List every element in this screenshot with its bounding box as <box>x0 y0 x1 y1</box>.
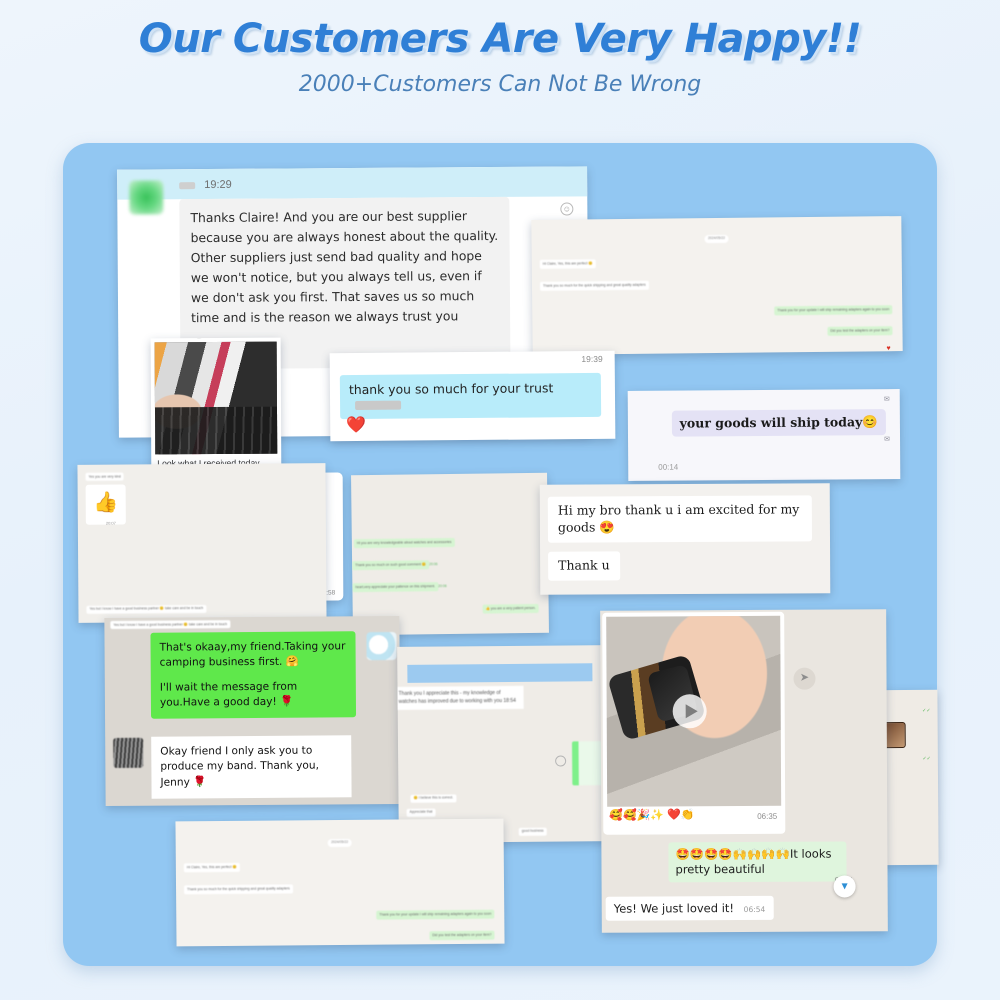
chat-line: Hi you are very knowledgeable about watc… <box>354 538 455 548</box>
message-time: 19:29 <box>204 179 232 191</box>
page-title: Our Customers Are Very Happy!! <box>0 16 1000 62</box>
message-time: 20:06 <box>438 584 447 588</box>
white-message-bubble: Okay friend I only ask you to produce my… <box>151 735 351 798</box>
chat-line: Did you test the adapters on your item? <box>429 931 494 940</box>
read-receipt-icon: ✉ <box>884 435 890 443</box>
message-time: 20:07 <box>106 521 116 526</box>
watch-on-wrist-photo <box>606 616 781 807</box>
message-bubble-thanks: Thank u <box>548 551 620 580</box>
green-message-bubble <box>572 741 602 785</box>
reaction-circle-icon[interactable] <box>555 755 566 766</box>
chat-card-appreciate: Thank you I appreciate this - my knowled… <box>397 645 611 843</box>
redacted-name <box>179 182 195 189</box>
green-line-3: I'll wait the message from <box>160 679 347 696</box>
chat-line: 😊 I believe this is correct. <box>410 794 456 803</box>
chat-line: Thank you so much on such good comment 😊 <box>352 561 429 570</box>
chat-card-received-photo: Look what I received today 🥳 18:40 <box>151 338 282 485</box>
thumbs-up-icon: 👍 <box>93 492 118 514</box>
message-text: Yes! We just loved it! <box>614 901 734 916</box>
message-bubble: thank you so much for your trust <box>340 373 601 419</box>
green-line-2: camping business first. 🤗 <box>160 655 347 672</box>
white-message-bubble: Yes! We just loved it! 06:54 <box>606 896 774 921</box>
play-button-icon[interactable] <box>673 694 707 728</box>
page-subtitle: 2000+Customers Can Not Be Wrong <box>0 72 1000 97</box>
chat-line: Yes but I know I have a good business pa… <box>86 605 206 614</box>
chat-line: Yes you are very kind <box>86 473 124 482</box>
forward-arrow-icon[interactable]: ➤ <box>793 668 815 690</box>
message-bubble: Thank you I appreciate this - my knowled… <box>397 686 524 710</box>
message-time: 19:39 <box>581 354 602 364</box>
message-meta: 19:29 <box>179 179 232 191</box>
chat-line: Thank you for your update I will ship re… <box>376 910 494 919</box>
heart-reaction-icon: ❤️ <box>346 415 366 435</box>
chat-card-adapters-top: 2024/05/22 Hi Claire, Yes, this are perf… <box>531 216 902 355</box>
avatar <box>129 180 163 214</box>
message-line-2: goods 😍 <box>558 519 615 534</box>
chevron-down-icon[interactable]: ▾ <box>834 875 856 897</box>
chat-line: Appreciate that <box>407 808 436 817</box>
message-time: 20:06 <box>429 562 438 566</box>
message-text: thank you so much for your trust <box>349 380 553 397</box>
message-bubble: Hi my bro thank u i am excited for my go… <box>548 495 812 542</box>
page-header: Our Customers Are Very Happy!! 2000+Cust… <box>0 0 1000 97</box>
chat-line: Did you test the adapters on your item? <box>827 327 892 336</box>
chat-card-ship-today: ✉ your goods will ship today😊 ✉ 00:14 <box>628 389 901 481</box>
double-check-icon: ✓✓ <box>922 708 930 714</box>
chat-line: 👍 you are a very patient person. <box>483 604 539 613</box>
chat-line: heart,very appreciate your patience on t… <box>352 583 438 592</box>
chat-date: 2024/05/22 <box>327 839 352 847</box>
chat-card-knowledgeable: Hi you are very knowledgeable about watc… <box>351 473 549 635</box>
message-line-1: Hi my bro thank u i am excited for my <box>558 501 800 517</box>
heart-reaction-icon: ♥ <box>886 345 890 352</box>
chat-card-video-review: 🥰🥰🎉✨ ❤️👏 06:35 ➤ 🤩🤩🤩🤩🙌🙌🙌🙌It looks pretty… <box>600 609 888 932</box>
message-time: 00:14 <box>658 463 678 472</box>
chat-date: 2024/05/22 <box>704 234 729 242</box>
chat-card-thank-you-trust: 19:39 thank you so much for your trust ❤… <box>330 351 616 441</box>
chat-line: Thank you for your update I will ship re… <box>774 306 892 316</box>
chat-line: Hi Claire, Yes, this are perfect 😊 <box>184 863 240 872</box>
redacted-name <box>355 401 401 410</box>
message-time: 06:54 <box>744 905 766 914</box>
video-message[interactable]: 🥰🥰🎉✨ ❤️👏 06:35 <box>602 612 785 835</box>
chat-card-excited-goods: Hi my bro thank u i am excited for my go… <box>540 483 831 595</box>
read-receipt-icon: ✉ <box>884 395 890 403</box>
emoji-reaction-icon[interactable]: ☺ <box>560 202 573 215</box>
green-line-1: That's okaay,my friend.Taking your <box>160 639 347 656</box>
thumbs-up-sticker: 👍 <box>86 485 126 525</box>
green-message-bubble: 🤩🤩🤩🤩🙌🙌🙌🙌It looks pretty beautiful <box>668 841 846 882</box>
message-text: Thank you I appreciate this - my knowled… <box>399 690 503 704</box>
received-bands-photo <box>155 342 278 455</box>
message-time: 06:35 <box>757 812 777 821</box>
sticker-icon <box>366 632 396 660</box>
green-message-bubble: That's okaay,my friend.Taking your campi… <box>150 631 356 719</box>
chat-line: Thank you so much for the quick shipping… <box>184 885 293 894</box>
chat-card-adapters-bottom: 2024/05/22 Hi Claire, Yes, this are perf… <box>175 819 504 947</box>
chat-card-camping-business: Yes but I know I have a good business pa… <box>104 616 400 806</box>
double-check-icon: ✓✓ <box>922 756 930 762</box>
reaction-emojis: 🥰🥰🎉✨ ❤️👏 <box>609 808 694 821</box>
chat-line: good business <box>519 827 547 836</box>
chat-card-you-are-kind: Yes you are very kind 👍 20:07 Yes but I … <box>77 463 326 623</box>
highlighted-region <box>407 663 592 683</box>
message-time: 18:54 <box>503 697 516 703</box>
message-text: Thanks Claire! And you are our best supp… <box>190 208 498 325</box>
chat-line-top: Yes but I know I have a good business pa… <box>110 620 230 629</box>
message-bubble: your goods will ship today😊 <box>672 409 886 436</box>
avatar <box>113 738 143 768</box>
green-line-4: you.Have a good day! 🌹 <box>160 694 347 711</box>
chat-line: Thank you so much for the quick shipping… <box>540 281 649 291</box>
chat-line: Hi Claire, Yes, this are perfect 😊 <box>540 260 596 269</box>
